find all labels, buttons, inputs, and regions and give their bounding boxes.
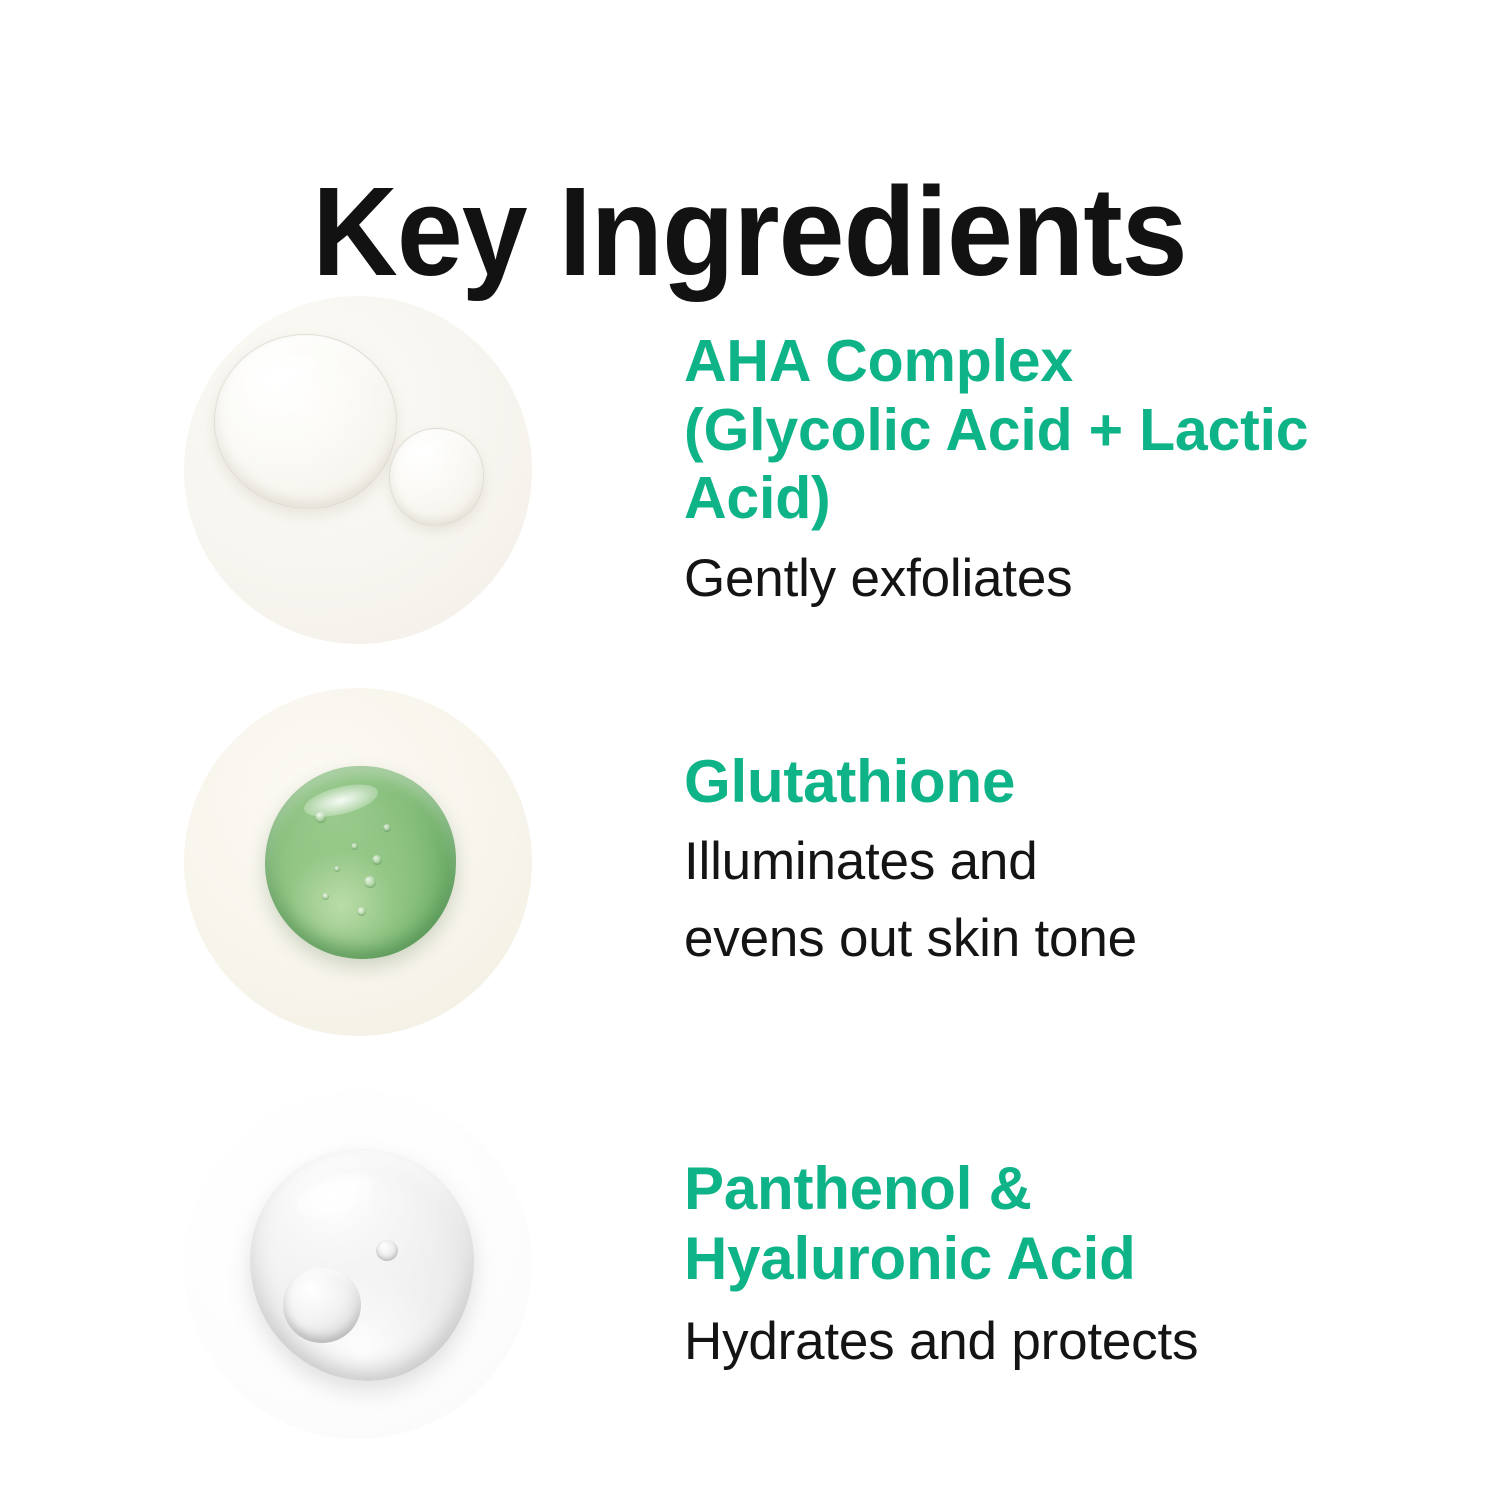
gel-bubble-icon [322, 893, 329, 900]
clear-dome-swatch [158, 1065, 558, 1465]
gel-bubble-icon [351, 843, 358, 850]
clear-droplets-swatch [158, 270, 558, 670]
gel-bubble-icon [334, 866, 340, 872]
green-gel-swatch [158, 662, 558, 1062]
droplet-small-icon [389, 428, 484, 526]
ingredient-row: AHA Complex (Glycolic Acid + Lactic Acid… [0, 280, 1499, 660]
ingredient-name: Panthenol & Hyaluronic Acid [684, 1154, 1424, 1293]
green-gel-droplet-icon [265, 766, 456, 959]
gel-bubble-icon [364, 876, 376, 888]
ingredient-description: Hydrates and protects [684, 1308, 1424, 1376]
ingredient-text: Glutathione Illuminates and evens out sk… [684, 747, 1424, 977]
droplet-large-icon [214, 334, 397, 509]
ingredient-list: AHA Complex (Glycolic Acid + Lactic Acid… [0, 0, 1499, 1500]
gel-bubble-icon [315, 812, 326, 823]
ingredient-description: Gently exfoliates [684, 545, 1424, 613]
gel-bubble-icon [357, 907, 366, 916]
tiny-bubble-icon [376, 1240, 398, 1261]
swatch-disc [184, 296, 532, 644]
swatch-disc [184, 1091, 532, 1439]
swatch-disc [184, 688, 532, 1036]
ingredient-text: AHA Complex (Glycolic Acid + Lactic Acid… [684, 327, 1424, 612]
ingredient-row: Glutathione Illuminates and evens out sk… [0, 672, 1499, 1052]
gel-bubble-icon [383, 824, 391, 832]
inner-bubble-icon [283, 1267, 361, 1343]
ingredient-text: Panthenol & Hyaluronic Acid Hydrates and… [684, 1154, 1424, 1375]
ingredient-name: AHA Complex (Glycolic Acid + Lactic Acid… [684, 327, 1424, 532]
key-ingredients-page: Key Ingredients AHA Complex (Glycolic Ac… [0, 0, 1499, 1500]
ingredient-row: Panthenol & Hyaluronic Acid Hydrates and… [0, 1075, 1499, 1455]
ingredient-name: Glutathione [684, 747, 1424, 817]
droplet-dome-icon [250, 1149, 474, 1381]
ingredient-description: Illuminates and evens out skin tone [684, 824, 1424, 977]
gel-bubble-icon [372, 855, 382, 865]
